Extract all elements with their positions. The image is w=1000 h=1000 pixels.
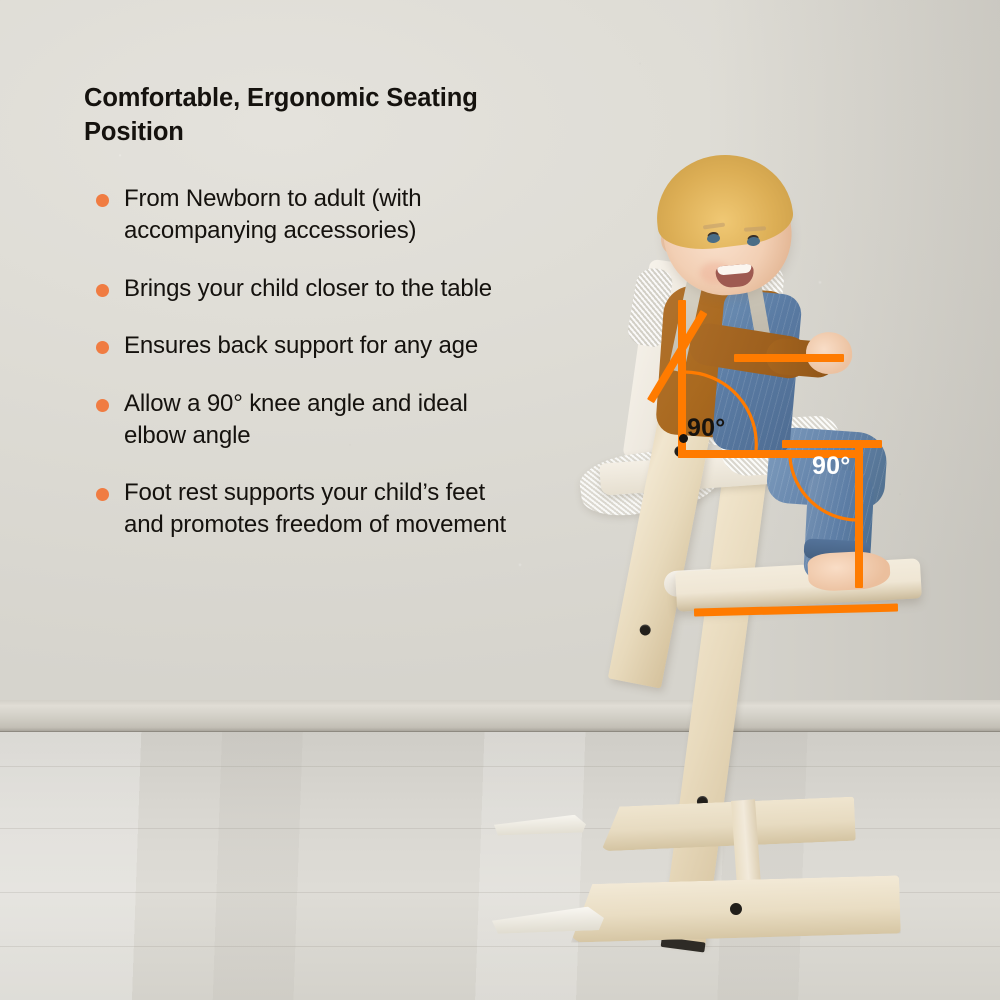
list-item: Brings your child closer to the table [84,273,524,305]
list-item: Ensures back support for any age [84,330,524,362]
page-title: Comfortable, Ergonomic Seating Position [84,82,514,149]
feature-list: From Newborn to adult (with accompanying… [84,183,554,540]
list-item-label: Foot rest supports your child’s feet and… [124,479,506,538]
bullet-icon [96,284,109,297]
bullet-icon [96,488,109,501]
bullet-icon [96,194,109,207]
list-item: From Newborn to adult (with accompanying… [84,183,524,246]
bullet-icon [96,399,109,412]
list-item: Allow a 90° knee angle and ideal elbow a… [84,388,524,451]
child-foot [807,550,891,592]
feature-text-panel: Comfortable, Ergonomic Seating Position … [84,82,554,567]
list-item: Foot rest supports your child’s feet and… [84,477,524,540]
list-item-label: From Newborn to adult (with accompanying… [124,185,421,244]
list-item-label: Brings your child closer to the table [124,275,492,302]
list-item-label: Allow a 90° knee angle and ideal elbow a… [124,390,468,449]
list-item-label: Ensures back support for any age [124,332,478,359]
bullet-icon [96,341,109,354]
